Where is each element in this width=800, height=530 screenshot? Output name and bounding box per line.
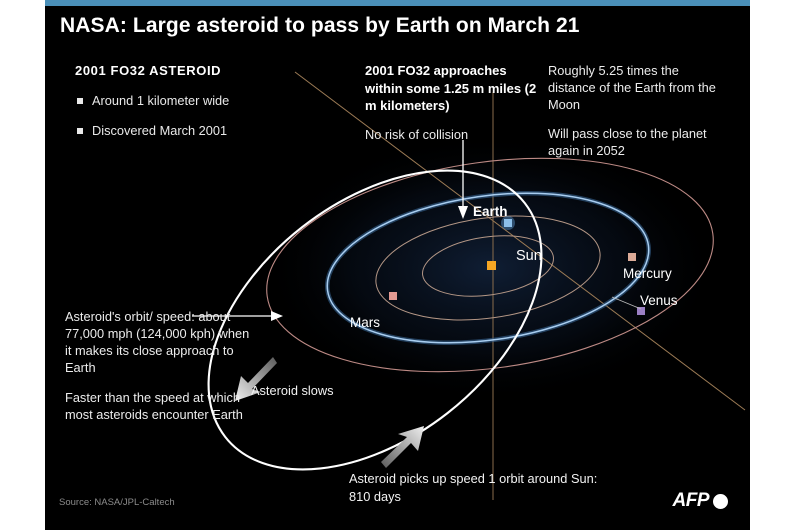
bullet-square-icon [77, 98, 83, 104]
dark-panel: Sun Mercury Venus Earth Mars NASA: Large… [45, 0, 750, 530]
right-top-callout: Roughly 5.25 times the distance of the E… [548, 62, 728, 159]
sun-marker [487, 261, 496, 270]
list-item-label: Discovered March 2001 [92, 123, 227, 138]
earth-marker [504, 219, 512, 227]
center-top-callout: 2001 FO32 approaches within some 1.25 m … [365, 62, 540, 143]
source-credit: Source: NASA/JPL-Caltech [59, 497, 175, 508]
infographic-canvas: Sun Mercury Venus Earth Mars NASA: Large… [0, 0, 800, 530]
earth-label: Earth [473, 204, 508, 219]
page-title: NASA: Large asteroid to pass by Earth on… [60, 14, 700, 38]
center-top-note: No risk of collision [365, 126, 540, 143]
annotation-asteroid-speeds: Asteroid picks up speed 1 orbit around S… [349, 470, 609, 505]
mars-label: Mars [350, 315, 380, 330]
right-top-line-1: Roughly 5.25 times the distance of the E… [548, 62, 728, 113]
center-top-headline: 2001 FO32 approaches within some 1.25 m … [365, 62, 540, 115]
asteroid-speeds-arrow [381, 426, 424, 468]
mars-marker [389, 292, 397, 300]
afp-logo: AFP [673, 490, 729, 512]
list-item: Around 1 kilometer wide [75, 93, 255, 110]
mercury-marker [628, 253, 636, 261]
annotation-asteroid-slows: Asteroid slows [251, 382, 341, 399]
left-panel-bullets: Around 1 kilometer wide Discovered March… [75, 93, 255, 152]
left-mid-callout: Asteroid's orbit/ speed: about 77,000 mp… [65, 308, 250, 423]
left-panel-heading: 2001 FO32 ASTEROID [75, 63, 221, 78]
afp-wordmark: AFP [673, 490, 710, 512]
sun-label: Sun [516, 248, 542, 264]
bullet-square-icon [77, 128, 83, 134]
right-top-line-2: Will pass close to the planet again in 2… [548, 125, 728, 159]
venus-label: Venus [640, 293, 678, 308]
top-accent-bar [45, 0, 750, 6]
left-mid-line-1: Asteroid's orbit/ speed: about 77,000 mp… [65, 308, 250, 376]
left-mid-line-2: Faster than the speed at which most aste… [65, 389, 250, 423]
list-item: Discovered March 2001 [75, 123, 255, 140]
afp-dot-icon [713, 494, 728, 509]
mercury-label: Mercury [623, 266, 672, 281]
list-item-label: Around 1 kilometer wide [92, 93, 229, 108]
